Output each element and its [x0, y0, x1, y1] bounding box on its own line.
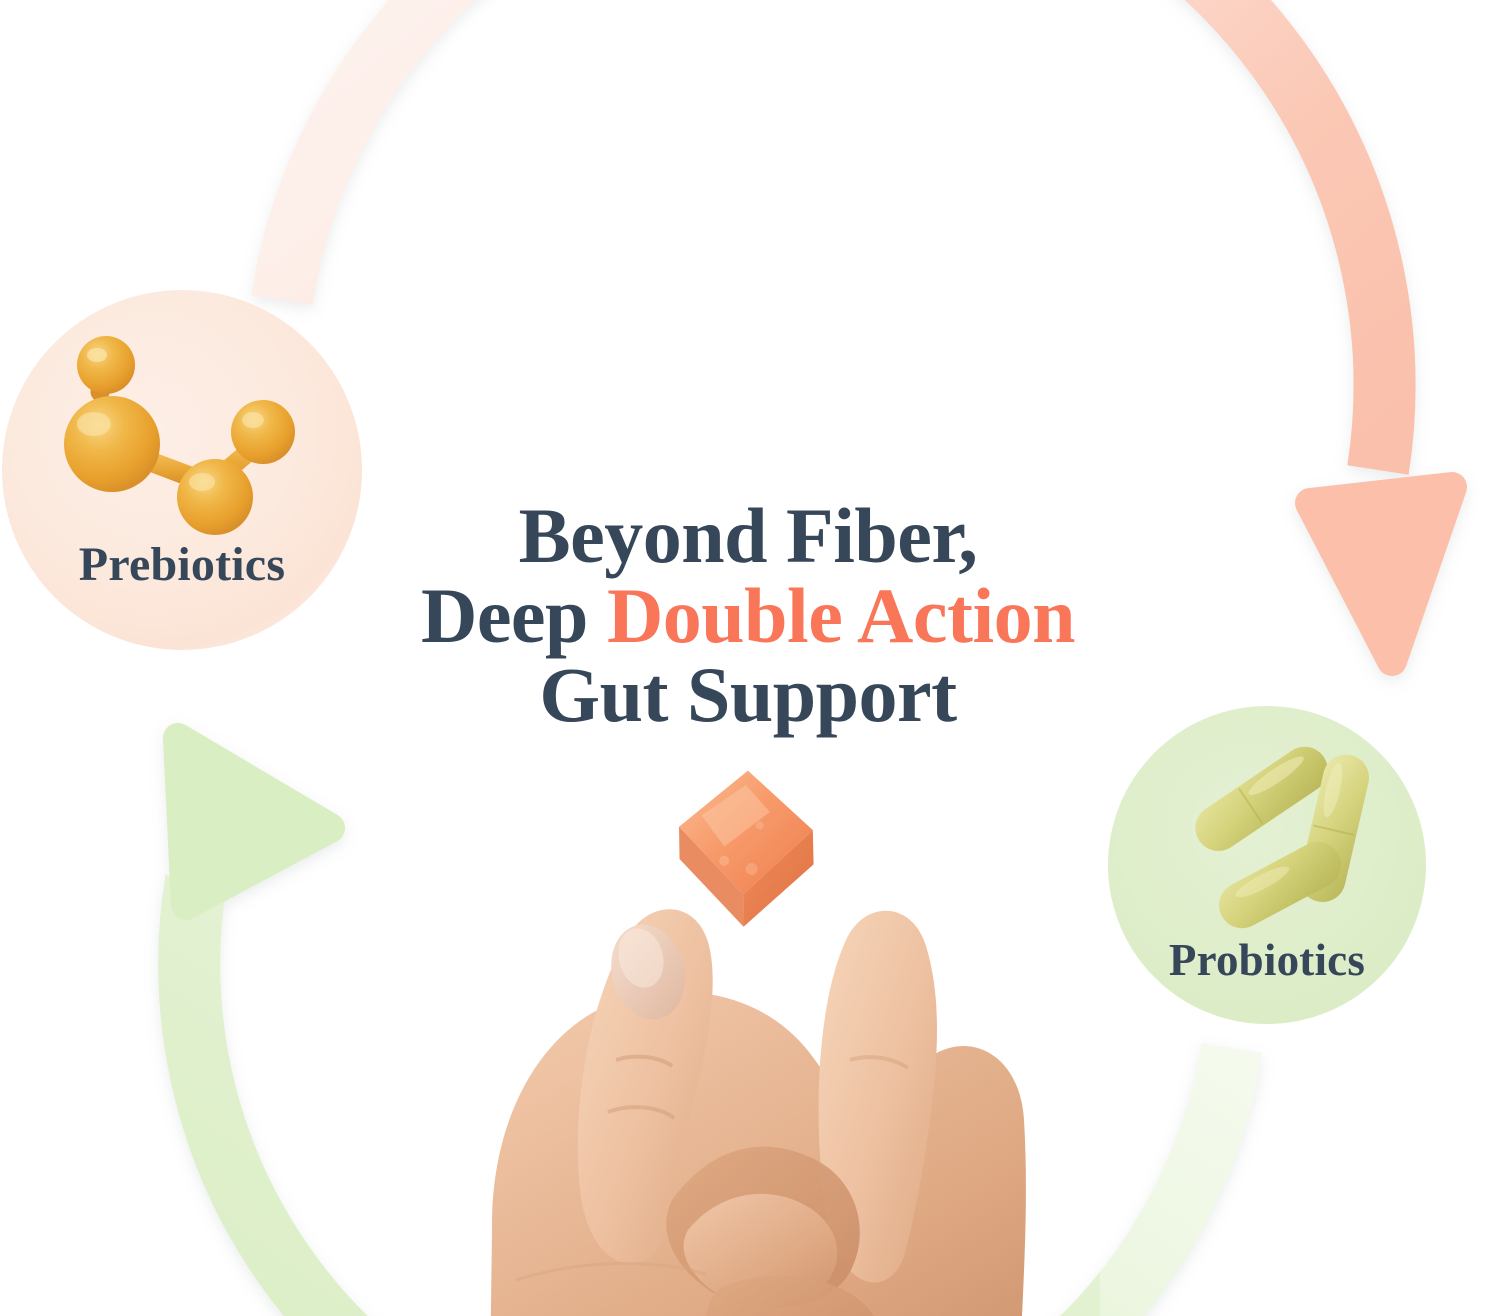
node-probiotics-label: Probiotics	[1169, 934, 1365, 986]
molecule-icon	[50, 332, 310, 542]
gummy-cube	[669, 763, 825, 934]
node-probiotics[interactable]: Probiotics	[1108, 706, 1426, 1024]
infographic-card: Prebiotics	[0, 0, 1496, 1316]
pink-arc-group	[282, 0, 1452, 661]
node-prebiotics[interactable]: Prebiotics	[2, 290, 362, 650]
hand-holding-gummy	[420, 760, 1080, 1316]
capsules-icon	[1166, 736, 1406, 931]
node-prebiotics-label: Prebiotics	[79, 537, 285, 592]
